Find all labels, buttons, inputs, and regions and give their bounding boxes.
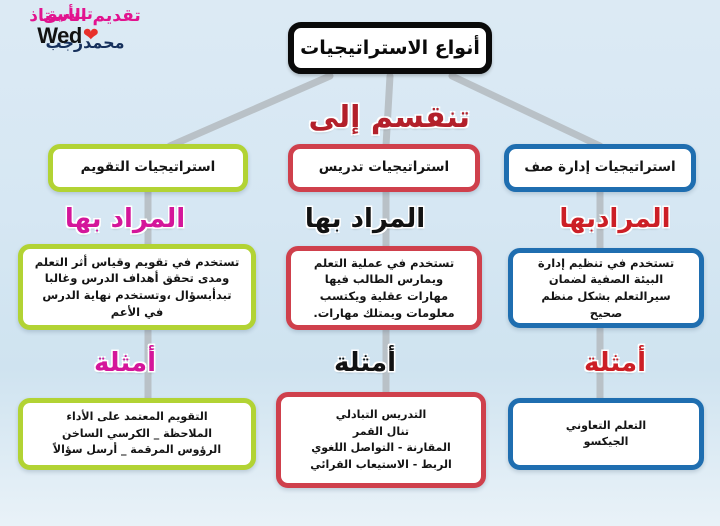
node-classroom-examples-text: التعلم التعاوني الجيكسو	[513, 418, 699, 451]
diagram-title-box: أنواع الاستراتيجيات	[288, 22, 492, 74]
node-evaluation-description-text: تستخدم في تقويم وقياس أثر التعلم ومدى تح…	[23, 254, 251, 321]
label-meant-by-classroom: المرادبها	[520, 204, 710, 234]
node-classroom-description-text: تستخدم في تنظيم إدارة البيئة الصفية لضما…	[513, 255, 699, 322]
connector-title-to-classroom	[452, 76, 600, 146]
node-teaching-description[interactable]: تستخدم في عملية التعلم ويمارس الطالب فيه…	[286, 246, 482, 330]
node-classroom-description[interactable]: تستخدم في تنظيم إدارة البيئة الصفية لضما…	[508, 248, 704, 328]
node-evaluation-strategies[interactable]: استراتيجيات التقويم	[48, 144, 248, 192]
node-evaluation-examples-text: التقويم المعتمد على الأداء الملاحظة _ ال…	[23, 409, 251, 459]
brand-row: ❤ Wed	[8, 22, 128, 50]
brand-credit: تنسيق ❤ Wed	[8, 4, 128, 50]
label-meant-by-teaching: المراد بها	[270, 204, 460, 234]
diagram-title-text: أنواع الاستراتيجيات	[300, 37, 480, 59]
node-teaching-description-text: تستخدم في عملية التعلم ويمارس الطالب فيه…	[291, 255, 477, 322]
brand-latin-label: Wed	[37, 22, 82, 50]
diagram-canvas: تقديم الأستاذ محمدرجب تنسيق ❤ Wed أنواع …	[0, 0, 720, 526]
connector-title-to-evaluation	[170, 76, 330, 146]
brand-arabic-label: تنسيق	[8, 4, 128, 24]
label-examples-evaluation: أمثلة	[30, 348, 220, 378]
node-classroom-management-strategies[interactable]: استراتيجيات إدارة صف	[504, 144, 696, 192]
label-examples-teaching: أمثلة	[270, 348, 460, 378]
label-examples-classroom: أمثلة	[520, 348, 710, 378]
label-divides-into: تنقسم إلى	[310, 100, 470, 135]
node-evaluation-strategies-text: استراتيجيات التقويم	[53, 159, 243, 177]
label-meant-by-evaluation: المراد بها	[30, 204, 220, 234]
node-teaching-strategies-text: استراتيجيات تدريس	[293, 159, 475, 177]
node-teaching-examples-text: التدريس التبادلي تنال القمر المقارنة - ا…	[281, 407, 481, 473]
node-teaching-strategies[interactable]: استراتيجيات تدريس	[288, 144, 480, 192]
node-classroom-examples[interactable]: التعلم التعاوني الجيكسو	[508, 398, 704, 470]
node-evaluation-description[interactable]: تستخدم في تقويم وقياس أثر التعلم ومدى تح…	[18, 244, 256, 330]
heart-icon: ❤	[83, 26, 99, 45]
node-teaching-examples[interactable]: التدريس التبادلي تنال القمر المقارنة - ا…	[276, 392, 486, 488]
node-classroom-management-strategies-text: استراتيجيات إدارة صف	[509, 159, 691, 177]
node-evaluation-examples[interactable]: التقويم المعتمد على الأداء الملاحظة _ ال…	[18, 398, 256, 470]
